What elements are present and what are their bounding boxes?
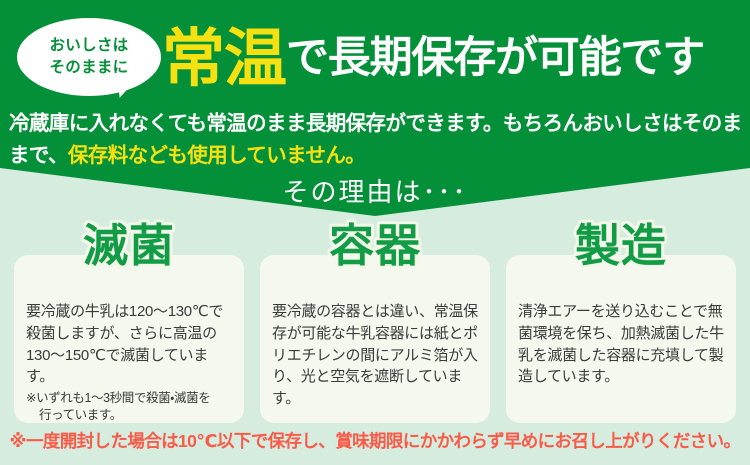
lead-paragraph: 冷蔵庫に入れなくても常温のまま長期保存ができます。もちろんおいしさはそのままで、… (9, 108, 747, 172)
card-title-sterilization: 滅菌 (14, 223, 244, 268)
headline: 常温 で長期保存が可能です (162, 16, 748, 102)
speech-bubble: おいしさは そのままに (17, 18, 161, 96)
headline-keyword: 常温 (162, 28, 286, 91)
speech-bubble-text: おいしさは そのままに (17, 18, 161, 96)
headline-rest: で長期保存が可能です (286, 37, 704, 82)
card-body-sterilization: 要冷蔵の牛乳は120〜130℃で殺菌しますが、さらに高温の130〜150℃で滅菌… (26, 301, 234, 388)
reason-card-sterilization: 滅菌 要冷蔵の牛乳は120〜130℃で殺菌しますが、さらに高温の130〜150℃… (14, 255, 244, 423)
infographic-root: おいしさは そのままに 常温 で長期保存が可能です 冷蔵庫に入れなくても常温のま… (0, 0, 750, 465)
card-body-container: 要冷蔵の容器とは違い、常温保存が可能な牛乳容器には紙とポリエチレンの間にアルミ箔… (272, 301, 480, 410)
card-title-manufacturing: 製造 (506, 223, 736, 268)
reason-card-container: 容器 要冷蔵の容器とは違い、常温保存が可能な牛乳容器には紙とポリエチレンの間にア… (260, 255, 490, 423)
lead-text-highlight: 保存料なども使用していません。 (68, 144, 365, 167)
card-body-manufacturing: 清浄エアーを送り込むことで無菌環境を保ち、加熱滅菌した牛乳を滅菌した容器に充填し… (518, 301, 726, 388)
footer-note: ※一度開封した場合は10℃以下で保存し、賞味期限にかかわらず早めにお召し上がりく… (0, 428, 750, 453)
reason-cards: 滅菌 要冷蔵の牛乳は120〜130℃で殺菌しますが、さらに高温の130〜150℃… (14, 255, 736, 423)
reason-card-manufacturing: 製造 清浄エアーを送り込むことで無菌環境を保ち、加熱滅菌した牛乳を滅菌した容器に… (506, 255, 736, 423)
speech-bubble-line-1: おいしさは (49, 35, 128, 57)
card-note-line-2: 行っています。 (26, 407, 234, 424)
card-note-line-1: ※いずれも1〜3秒間で殺菌・滅菌を (26, 391, 210, 405)
reason-caption: その理由は･･･ (0, 172, 750, 209)
card-note-sterilization: ※いずれも1〜3秒間で殺菌・滅菌を 行っています。 (26, 390, 234, 424)
card-title-container: 容器 (260, 223, 490, 268)
speech-bubble-line-2: そのままに (49, 57, 128, 79)
